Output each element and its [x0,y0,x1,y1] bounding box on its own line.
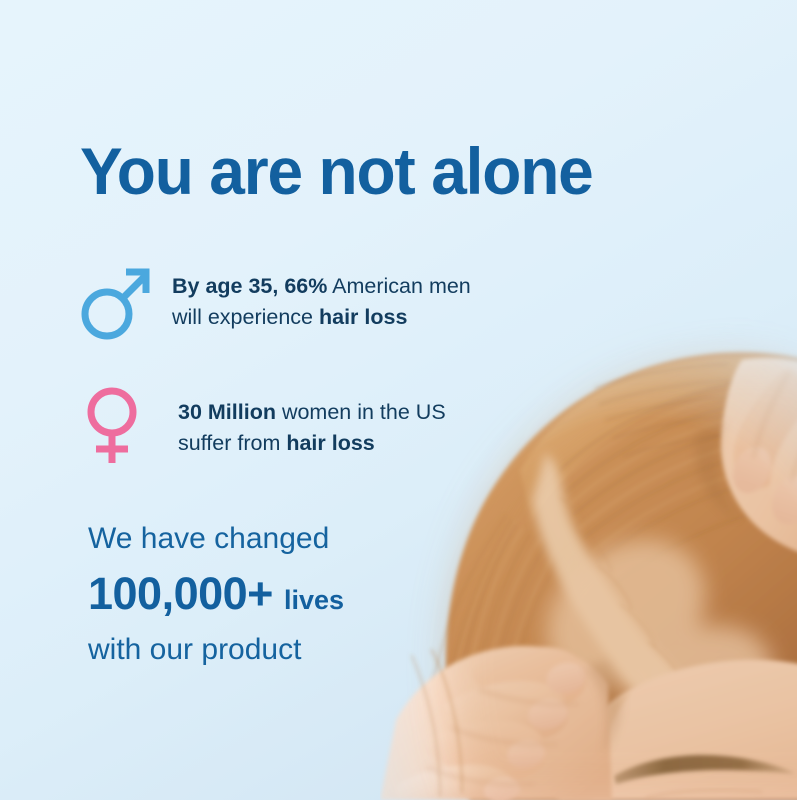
stat-women-line1-bold: 30 Million [178,400,276,424]
closing-line-2: 100,000+lives [88,571,344,616]
poster-content: You are not alone By age 35, 66% America… [0,0,797,800]
promo-poster: You are not alone By age 35, 66% America… [0,0,797,800]
stat-women-line2-bold: hair loss [286,431,374,455]
stat-row-men: By age 35, 66% American men will experie… [78,262,471,346]
stat-men-line2-rest: will experience [172,305,319,329]
closing-line-3: with our product [88,635,344,665]
stat-women-line2-rest: suffer from [178,431,286,455]
lives-unit: lives [284,585,344,615]
male-gender-symbol-icon [78,262,152,346]
stat-men-line1-bold: By age 35, 66% [172,274,327,298]
female-gender-symbol-icon [82,383,156,467]
page-title: You are not alone [80,138,593,204]
stat-row-women: 30 Million women in the US suffer from h… [82,383,446,467]
stat-women-line1-rest: women in the US [276,400,446,424]
stat-men-line2-bold: hair loss [319,305,407,329]
lives-count: 100,000+ [88,568,273,619]
stat-text-men: By age 35, 66% American men will experie… [172,262,471,333]
closing-line-1: We have changed [88,524,344,554]
closing-claim: We have changed 100,000+lives with our p… [88,524,344,665]
stat-text-women: 30 Million women in the US suffer from h… [178,383,446,459]
stat-men-line1-rest: American men [327,274,470,298]
